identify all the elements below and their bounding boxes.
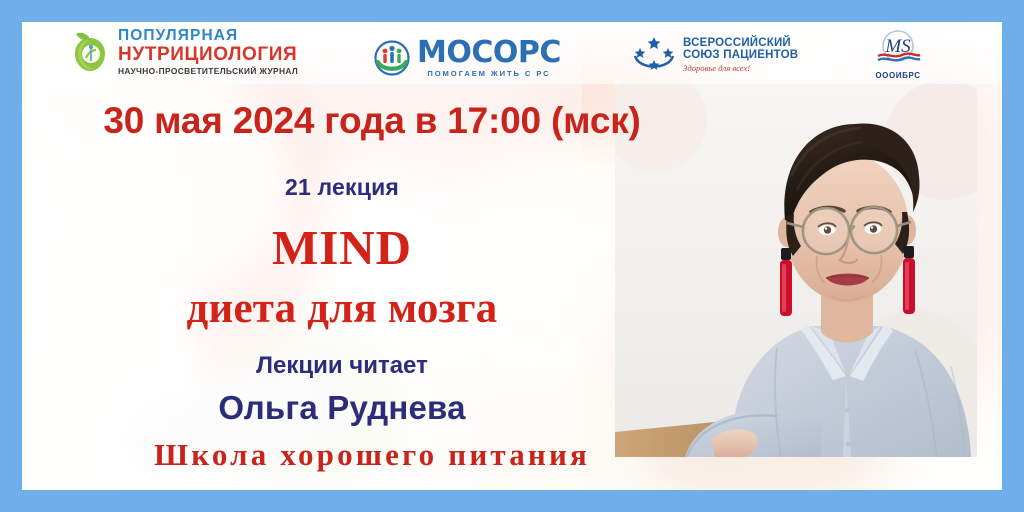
partner-logo-strip: ПОПУЛЯРНАЯ НУТРИЦИОЛОГИЯ НАУЧНО-ПРОСВЕТИ… xyxy=(22,22,1002,84)
logo-nutri-line3: НАУЧНО-ПРОСВЕТИТЕЛЬСКИЙ ЖУРНАЛ xyxy=(118,67,298,75)
frame-right xyxy=(1002,0,1024,512)
event-datetime-headline: 30 мая 2024 года в 17:00 (мск) xyxy=(22,100,722,142)
presenter-name: Ольга Руднева xyxy=(22,389,662,427)
green-apple-icon xyxy=(70,29,110,73)
lecture-title-sub: диета для мозга xyxy=(22,284,662,333)
logo-ooo-ibrs: MS ОООИБРС xyxy=(870,28,926,80)
lecture-title-main: MIND xyxy=(22,219,662,276)
logo-vsp-line1: ВСЕРОССИЙСКИЙ xyxy=(683,37,798,49)
people-circle-icon xyxy=(374,40,410,76)
stars-people-circle-icon xyxy=(632,34,676,76)
logo-nutri-line1: ПОПУЛЯРНАЯ xyxy=(118,28,298,44)
lecture-number: 21 лекция xyxy=(22,174,662,201)
banner-canvas: ПОПУЛЯРНАЯ НУТРИЦИОЛОГИЯ НАУЧНО-ПРОСВЕТИ… xyxy=(22,22,1002,490)
logo-mosors-tagline: ПОМОГАЕМ ЖИТЬ С РС xyxy=(417,70,561,78)
ms-wave-emblem-icon: MS xyxy=(870,28,926,70)
presenter-label: Лекции читает xyxy=(22,352,662,380)
frame-left xyxy=(0,0,22,512)
logo-all-russian-patients-union: ВСЕРОССИЙСКИЙ СОЮЗ ПАЦИЕНТОВ Здоровье дл… xyxy=(632,34,798,76)
earring-right xyxy=(903,246,915,314)
school-name: Школа хорошего питания xyxy=(22,437,722,473)
logo-vsp-tagline: Здоровье для всех! xyxy=(683,64,798,73)
logo-vsp-line2: СОЮЗ ПАЦИЕНТОВ xyxy=(683,49,798,61)
logo-nutri-line2: НУТРИЦИОЛОГИЯ xyxy=(118,45,298,64)
logo-mosors: МОСОРС ПОМОГАЕМ ЖИТЬ С РС xyxy=(374,38,561,78)
frame-top xyxy=(0,0,1024,22)
earring-left xyxy=(780,248,792,316)
logo-mosors-name: МОСОРС xyxy=(417,38,561,68)
frame-bottom xyxy=(0,490,1024,512)
logo-ms-caption: ОООИБРС xyxy=(875,71,920,80)
logo-popular-nutriciology: ПОПУЛЯРНАЯ НУТРИЦИОЛОГИЯ НАУЧНО-ПРОСВЕТИ… xyxy=(70,28,298,75)
webinar-banner: ПОПУЛЯРНАЯ НУТРИЦИОЛОГИЯ НАУЧНО-ПРОСВЕТИ… xyxy=(0,0,1024,512)
